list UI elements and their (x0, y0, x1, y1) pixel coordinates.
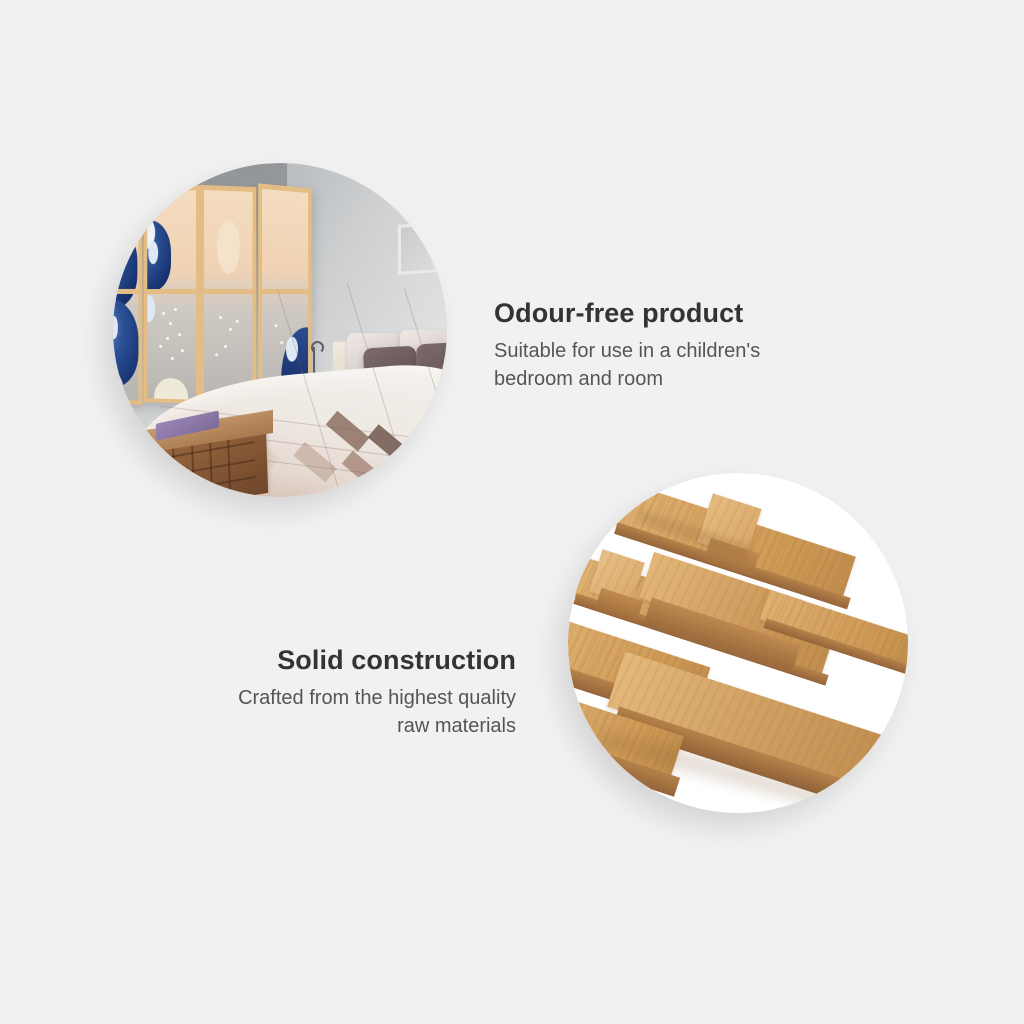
wood-stack-scene (568, 473, 908, 813)
wall-picture-frame (398, 221, 447, 275)
feature-description: Crafted from the highest quality raw mat… (150, 684, 516, 741)
floor-lamp-head (311, 341, 324, 354)
stacked-wooden-planks-photo (568, 473, 908, 813)
feature-text-solid-construction: Solid construction Crafted from the high… (150, 645, 516, 741)
great-wave-artwork (147, 191, 196, 400)
feature-text-odour-free: Odour-free product Suitable for use in a… (494, 298, 834, 394)
bedroom-scene (113, 163, 447, 497)
bedroom-with-room-divider-photo (113, 163, 447, 497)
photo-clip (568, 473, 908, 813)
divider-panel (200, 185, 256, 404)
great-wave-artwork (204, 190, 252, 400)
feature-description: Suitable for use in a children's bedroom… (494, 337, 834, 394)
divider-panel (143, 186, 199, 405)
folding-room-divider (113, 186, 313, 403)
great-wave-artwork (113, 190, 138, 401)
product-feature-infographic: Odour-free product Suitable for use in a… (0, 0, 1024, 1024)
divider-panel (113, 184, 142, 405)
feature-title: Odour-free product (494, 298, 834, 329)
feature-title: Solid construction (150, 645, 516, 676)
photo-clip (113, 163, 447, 497)
